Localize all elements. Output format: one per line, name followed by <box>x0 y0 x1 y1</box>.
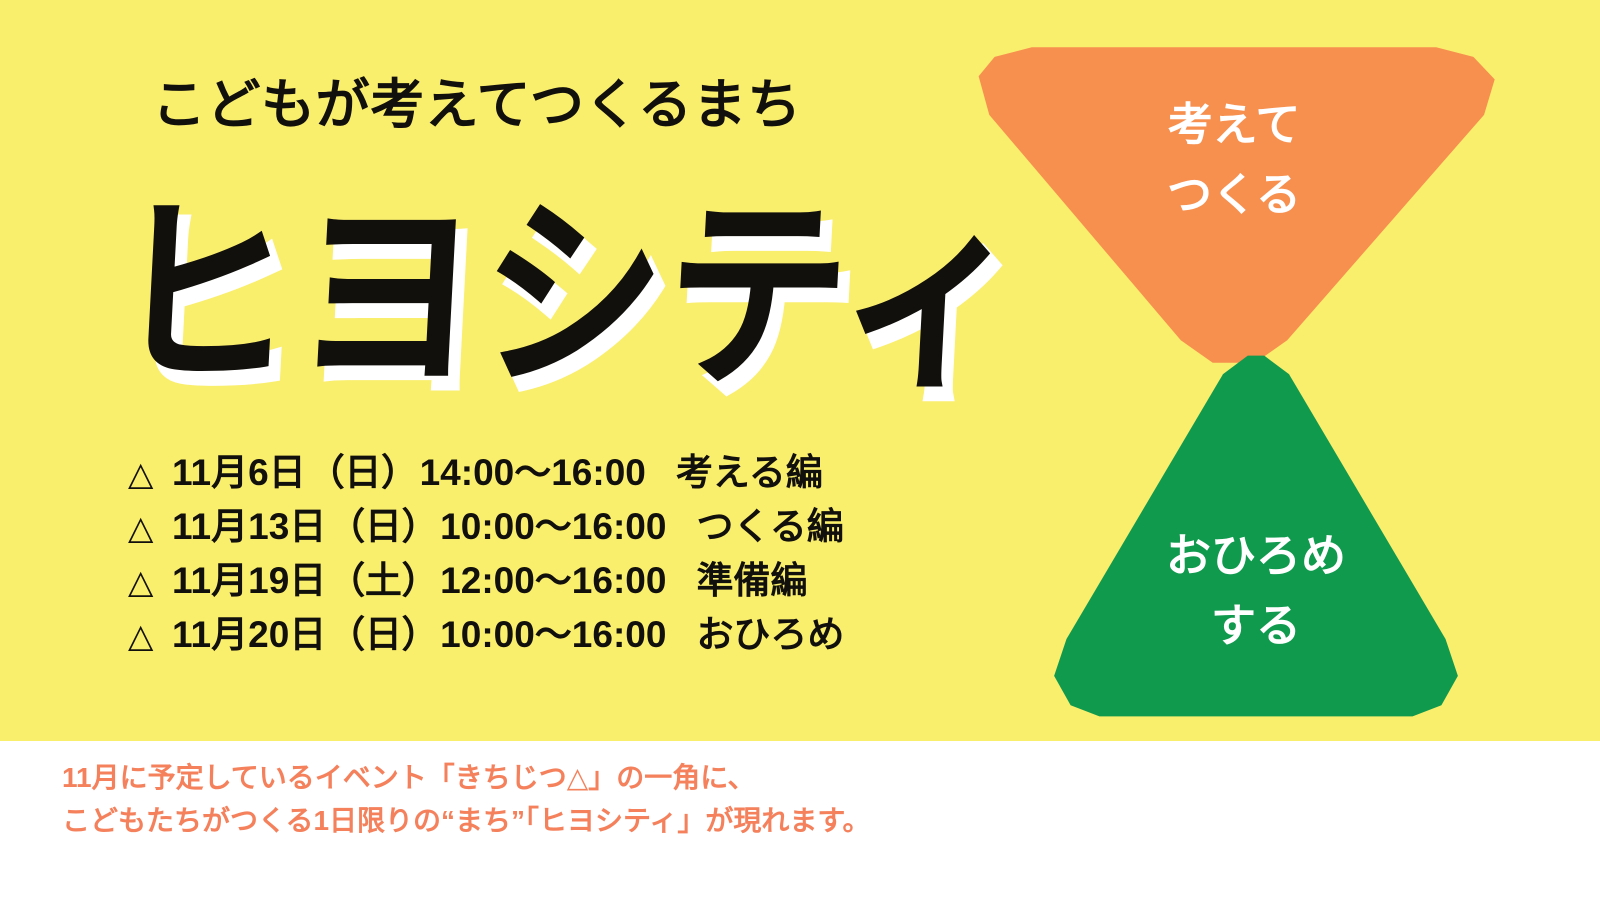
badge-showcase: おひろめ する <box>1050 352 1462 720</box>
schedule-row: △ 11月13日 （日） 10:00〜16:00 つくる編 <box>128 496 988 550</box>
yellow-stage: こどもが考えてつくるまち ヒヨシティ ヒヨシティ △ 11月6日 （日） 14:… <box>0 0 1600 741</box>
badge-orange-text: 考えて つくる <box>1167 90 1301 230</box>
triangle-bullet-icon: △ <box>128 616 172 655</box>
badge-green-line-1: おひろめ <box>1166 521 1346 591</box>
footer-line-2: こどもたちがつくる1日限りの“まち”「ヒヨシティ」が現れます。 <box>62 800 871 843</box>
footer-description: 11月に予定しているイベント「きちじつ△」の一角に、 こどもたちがつくる1日限り… <box>62 757 871 842</box>
schedule-weekday: （日） <box>328 604 438 658</box>
badge-green-text: おひろめ する <box>1166 521 1346 661</box>
poster-canvas: こどもが考えてつくるまち ヒヨシティ ヒヨシティ △ 11月6日 （日） 14:… <box>0 0 1600 900</box>
schedule-time: 14:00〜16:00 <box>420 442 646 496</box>
schedule-time: 12:00〜16:00 <box>440 550 666 604</box>
schedule-list: △ 11月6日 （日） 14:00〜16:00 考える編 △ 11月13日 （日… <box>128 442 988 658</box>
schedule-date: 11月13日 <box>172 496 326 550</box>
triangle-bullet-icon: △ <box>128 454 172 493</box>
badge-orange-line-2: つくる <box>1167 160 1301 230</box>
schedule-label: 準備編 <box>696 550 807 604</box>
schedule-weekday: （日） <box>328 496 438 550</box>
schedule-row: △ 11月19日 （土） 12:00〜16:00 準備編 <box>128 550 988 604</box>
triangle-bullet-icon: △ <box>128 508 172 547</box>
tagline: こどもが考えてつくるまち <box>152 78 802 132</box>
schedule-weekday: （土） <box>328 550 438 604</box>
schedule-date: 11月20日 <box>172 604 326 658</box>
footer-bar: 11月に予定しているイベント「きちじつ△」の一角に、 こどもたちがつくる1日限り… <box>0 741 1600 900</box>
badge-think-and-make: 考えて つくる <box>968 44 1500 366</box>
schedule-row: △ 11月20日 （日） 10:00〜16:00 おひろめ <box>128 604 988 658</box>
schedule-weekday: （日） <box>308 442 418 496</box>
schedule-time: 10:00〜16:00 <box>440 604 666 658</box>
schedule-row: △ 11月6日 （日） 14:00〜16:00 考える編 <box>128 442 988 496</box>
badge-orange-line-1: 考えて <box>1167 90 1301 160</box>
main-title: ヒヨシティ ヒヨシティ <box>118 186 938 401</box>
schedule-label: 考える編 <box>676 442 823 496</box>
schedule-date: 11月19日 <box>172 550 326 604</box>
badge-green-line-2: する <box>1166 591 1346 661</box>
main-title-text: ヒヨシティ <box>106 186 1030 406</box>
schedule-time: 10:00〜16:00 <box>440 496 666 550</box>
triangle-bullet-icon: △ <box>128 562 172 601</box>
schedule-label: つくる編 <box>696 496 843 550</box>
footer-line-1: 11月に予定しているイベント「きちじつ△」の一角に、 <box>62 757 871 800</box>
schedule-date: 11月6日 <box>172 442 306 496</box>
schedule-label: おひろめ <box>696 604 844 658</box>
